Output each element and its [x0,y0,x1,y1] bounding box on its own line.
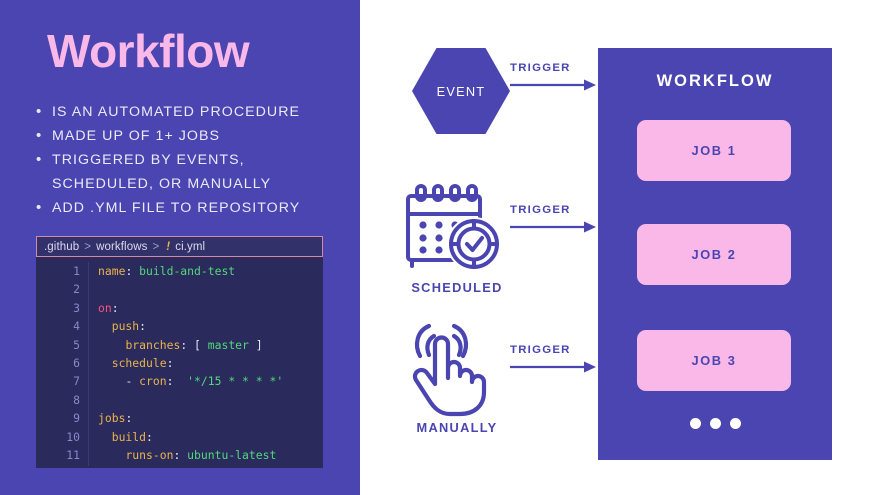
code-line-text: on: [88,299,119,317]
code-token: : [180,338,194,352]
code-token: build [112,430,146,444]
code-line-text: build: [88,428,153,446]
code-token: branches [125,338,180,352]
code-token: jobs [98,411,125,425]
list-item: IS AN AUTOMATED PROCEDURE [36,100,356,124]
event-label: EVENT [412,48,510,134]
page-title: Workflow [47,28,249,74]
code-line-text: runs-on: ubuntu-latest [88,446,276,464]
list-item: ADD .YML FILE TO REPOSITORY [36,196,356,220]
dot-icon [710,418,721,429]
code-editor: .github > workflows > ! ci.yml 1name: bu… [36,236,323,468]
code-line-text: - cron: '*/15 * * * *' [88,372,283,390]
line-number: 3 [36,299,88,317]
line-number: 7 [36,372,88,390]
code-line: 7 - cron: '*/15 * * * *' [36,372,323,390]
code-token: [ [194,338,208,352]
code-line-text: name: build-and-test [88,262,235,280]
feature-bullet-list: IS AN AUTOMATED PROCEDURE MADE UP OF 1+ … [36,100,356,220]
arrow-right-icon [508,78,596,92]
line-number: 5 [36,336,88,354]
line-number: 6 [36,354,88,372]
code-token: master [208,338,249,352]
code-token: on [98,301,112,315]
hand-tap-icon [398,322,508,418]
line-number: 11 [36,446,88,464]
job-box-1[interactable]: JOB 1 [637,120,791,181]
code-line-text: branches: [ master ] [88,336,263,354]
dot-icon [690,418,701,429]
code-token: schedule [112,356,167,370]
code-token: : [125,411,132,425]
code-token: : [125,264,139,278]
line-number: 1 [36,262,88,280]
arrow-right-icon [508,220,596,234]
trigger-manually: TRIGGER [508,344,598,374]
manually-caption: MANUALLY [392,420,522,435]
line-number: 9 [36,409,88,427]
arrow-right-icon [508,360,596,374]
warning-exclamation-icon: ! [166,241,170,253]
code-token: build-and-test [139,264,235,278]
dot-icon [730,418,741,429]
code-lines-container[interactable]: 1name: build-and-test23on:4 push:5 branc… [36,257,323,464]
trigger-label: TRIGGER [508,204,598,216]
code-line: 8 [36,391,323,409]
code-line: 5 branches: [ master ] [36,336,323,354]
code-token: cron [139,374,166,388]
code-token: : [146,430,153,444]
code-line: 2 [36,280,323,298]
list-item: TRIGGERED BY EVENTS, SCHEDULED, OR MANUA… [36,148,356,196]
job-box-3[interactable]: JOB 3 [637,330,791,391]
workflow-panel-title: WORKFLOW [598,72,832,91]
breadcrumb-filename[interactable]: ci.yml [175,241,205,253]
line-number: 8 [36,391,88,409]
code-line: 11 runs-on: ubuntu-latest [36,446,323,464]
event-source: EVENT [398,40,508,160]
chevron-right-icon: > [84,241,91,253]
trigger-label: TRIGGER [508,344,598,356]
code-line: 4 push: [36,317,323,335]
code-token: - [125,374,139,388]
gutter-divider [88,262,89,466]
line-number: 4 [36,317,88,335]
code-token: : [173,448,187,462]
code-token: : [167,374,188,388]
code-line-text: jobs: [88,409,132,427]
trigger-label: TRIGGER [508,62,598,74]
workflow-panel: WORKFLOW JOB 1 JOB 2 JOB 3 [598,48,832,460]
scheduled-source: SCHEDULED [398,182,508,302]
code-token: : [167,356,174,370]
code-token: push [112,319,139,333]
code-line: 9jobs: [36,409,323,427]
code-token: ubuntu-latest [187,448,276,462]
breadcrumb: .github > workflows > ! ci.yml [36,236,323,257]
job-box-2[interactable]: JOB 2 [637,224,791,285]
trigger-row-scheduled: SCHEDULED TRIGGER [360,182,598,302]
chevron-right-icon: > [152,241,159,253]
calendar-clock-icon [398,182,508,278]
trigger-row-manually: MANUALLY TRIGGER [360,322,598,442]
trigger-scheduled: TRIGGER [508,204,598,234]
code-token: runs-on [125,448,173,462]
list-item: MADE UP OF 1+ JOBS [36,124,356,148]
code-line: 6 schedule: [36,354,323,372]
code-token: : [139,319,146,333]
breadcrumb-folder-workflows[interactable]: workflows [96,241,147,253]
code-token: '*/15 * * * *' [187,374,283,388]
breadcrumb-folder-github[interactable]: .github [44,241,79,253]
code-line-text: push: [88,317,146,335]
code-token: ] [249,338,263,352]
line-number: 10 [36,428,88,446]
code-line: 1name: build-and-test [36,262,323,280]
manually-source: MANUALLY [398,322,508,442]
line-number: 2 [36,280,88,298]
code-line: 3on: [36,299,323,317]
trigger-row-event: EVENT TRIGGER [360,40,598,160]
more-jobs-indicator [598,418,832,429]
workflow-diagram: EVENT TRIGGER [360,0,880,495]
scheduled-caption: SCHEDULED [392,280,522,295]
code-token: name [98,264,125,278]
code-token: : [112,301,119,315]
trigger-event: TRIGGER [508,62,598,92]
code-line: 10 build: [36,428,323,446]
code-line-text: schedule: [88,354,173,372]
left-info-panel: Workflow IS AN AUTOMATED PROCEDURE MADE … [0,0,360,495]
